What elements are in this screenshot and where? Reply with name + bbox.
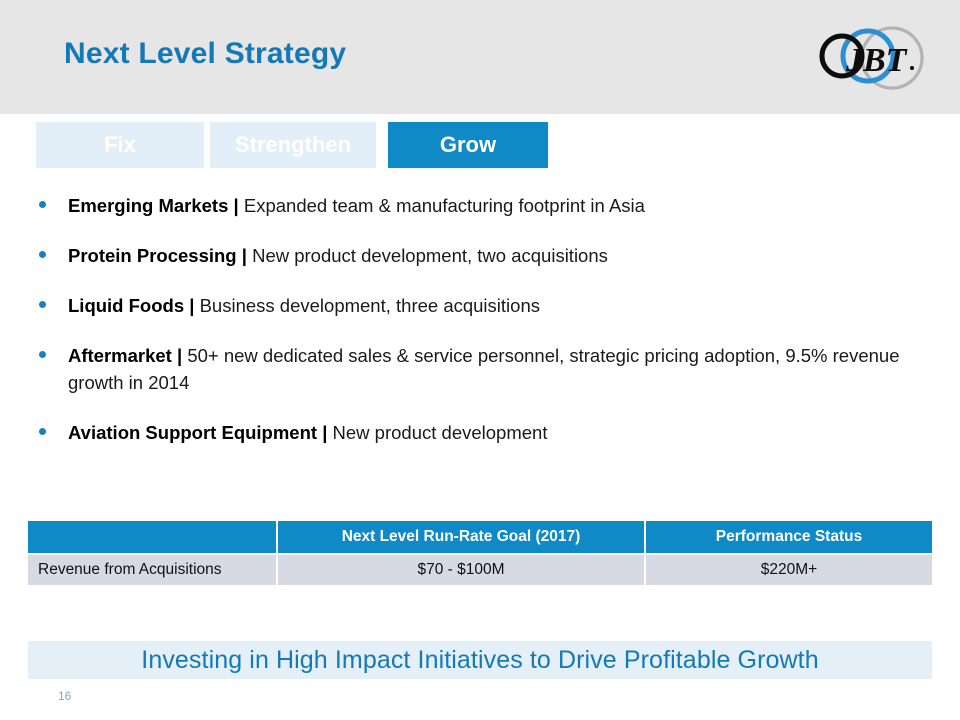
bullet-text: New product development, two acquisition… — [252, 245, 608, 266]
bullet-separator: | — [242, 245, 247, 266]
bullet-separator: | — [177, 345, 182, 366]
jbt-logo: JBT — [806, 14, 930, 102]
table-header-blank — [28, 521, 278, 553]
slide-number: 16 — [58, 689, 71, 703]
page-title: Next Level Strategy — [64, 37, 346, 71]
tab-fix-label: Fix — [104, 132, 136, 158]
bullet-text: Expanded team & manufacturing footprint … — [244, 195, 645, 216]
tab-fix[interactable]: Fix — [36, 122, 204, 168]
bullet-separator: | — [189, 295, 194, 316]
tab-strengthen[interactable]: Strengthen — [210, 122, 376, 168]
tab-grow-label: Grow — [440, 132, 496, 158]
bullet-text: 50+ new dedicated sales & service person… — [68, 345, 900, 393]
svg-text:JBT: JBT — [845, 42, 908, 79]
bullet-dot-icon — [39, 251, 46, 258]
table-header-row: Next Level Run-Rate Goal (2017) Performa… — [28, 521, 932, 553]
bullet-lead: Emerging Markets — [68, 195, 228, 216]
list-item: Liquid Foods | Business development, thr… — [30, 292, 910, 319]
goal-table: Next Level Run-Rate Goal (2017) Performa… — [28, 521, 932, 585]
jbt-logo-icon: JBT — [806, 14, 930, 102]
bullet-lead: Protein Processing — [68, 245, 237, 266]
table-cell-label: Revenue from Acquisitions — [28, 553, 278, 585]
table-header-goal: Next Level Run-Rate Goal (2017) — [278, 521, 646, 553]
bullet-lead: Aviation Support Equipment — [68, 422, 317, 443]
table-header-status: Performance Status — [646, 521, 932, 553]
footer-banner: Investing in High Impact Initiatives to … — [28, 641, 932, 679]
tab-grow[interactable]: Grow — [388, 122, 548, 168]
table-header: Next Level Run-Rate Goal (2017) Performa… — [28, 521, 932, 553]
list-item: Emerging Markets | Expanded team & manuf… — [30, 192, 910, 219]
bullet-dot-icon — [39, 201, 46, 208]
bullet-text: Business development, three acquisitions — [200, 295, 540, 316]
table-row: Revenue from Acquisitions $70 - $100M $2… — [28, 553, 932, 585]
bullet-text: New product development — [333, 422, 548, 443]
bullet-dot-icon — [39, 428, 46, 435]
bullet-separator: | — [322, 422, 327, 443]
bullet-dot-icon — [39, 351, 46, 358]
bullet-dot-icon — [39, 301, 46, 308]
bullet-lead: Aftermarket — [68, 345, 172, 366]
list-item: Aviation Support Equipment | New product… — [30, 419, 910, 446]
table-body: Revenue from Acquisitions $70 - $100M $2… — [28, 553, 932, 585]
footer-banner-text: Investing in High Impact Initiatives to … — [141, 646, 818, 675]
table-cell-status: $220M+ — [646, 553, 932, 585]
bullet-separator: | — [234, 195, 239, 216]
list-item: Protein Processing | New product develop… — [30, 242, 910, 269]
table-cell-goal: $70 - $100M — [278, 553, 646, 585]
tab-strengthen-label: Strengthen — [235, 132, 351, 158]
bullet-list: Emerging Markets | Expanded team & manuf… — [30, 192, 910, 469]
list-item: Aftermarket | 50+ new dedicated sales & … — [30, 342, 910, 396]
bullet-lead: Liquid Foods — [68, 295, 184, 316]
